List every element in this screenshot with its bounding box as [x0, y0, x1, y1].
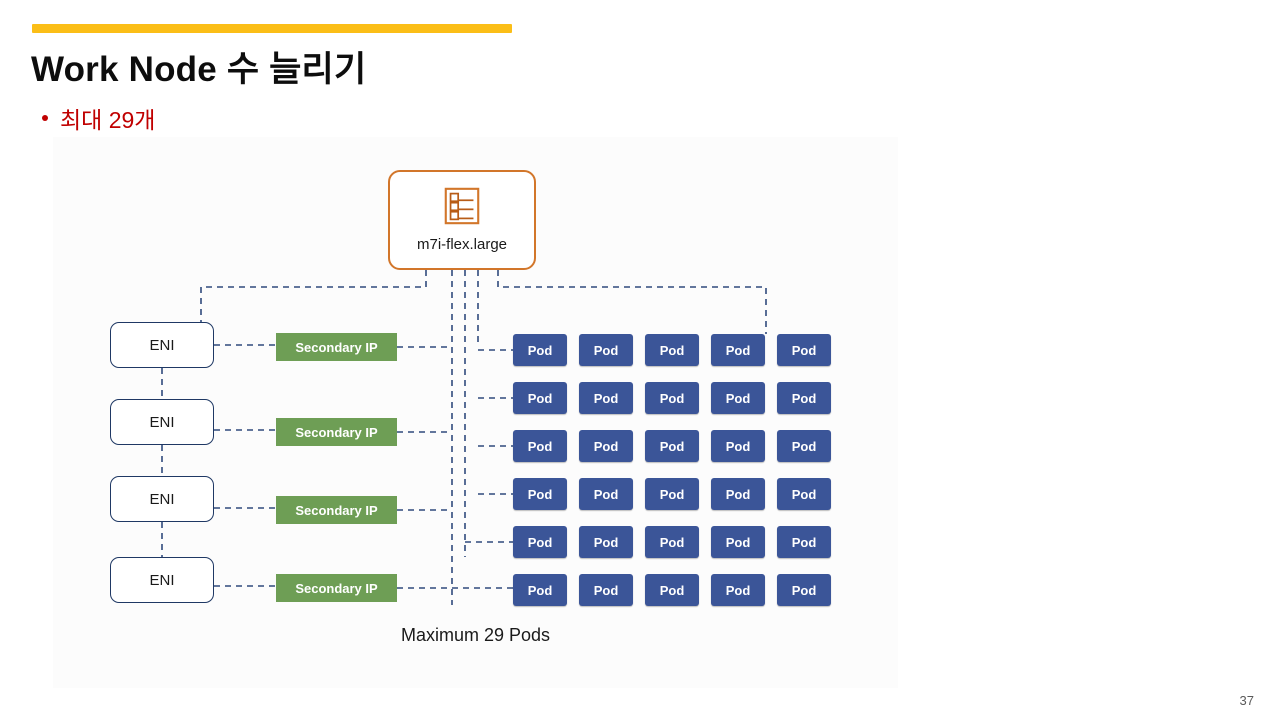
- pod-box[interactable]: Pod: [513, 430, 567, 462]
- pod-box[interactable]: Pod: [579, 526, 633, 558]
- pod-box[interactable]: Pod: [513, 526, 567, 558]
- pod-box[interactable]: Pod: [645, 382, 699, 414]
- pod-box[interactable]: Pod: [777, 382, 831, 414]
- diagram-caption: Maximum 29 Pods: [53, 625, 898, 646]
- pod-box[interactable]: Pod: [579, 478, 633, 510]
- ec2-instance-icon: [441, 185, 483, 227]
- eni-box[interactable]: ENI: [110, 322, 214, 368]
- pod-box[interactable]: Pod: [711, 574, 765, 606]
- secondary-ip-box[interactable]: Secondary IP: [276, 496, 397, 524]
- secondary-ip-box[interactable]: Secondary IP: [276, 418, 397, 446]
- pod-box[interactable]: Pod: [513, 334, 567, 366]
- page-title: Work Node 수 늘리기: [31, 41, 366, 92]
- title-accent-bar: [32, 24, 512, 33]
- bullet-label: 최대 29개: [60, 101, 155, 135]
- secondary-ip-box[interactable]: Secondary IP: [276, 574, 397, 602]
- pod-box[interactable]: Pod: [711, 430, 765, 462]
- bullet-dot-icon: [42, 115, 48, 121]
- pod-box[interactable]: Pod: [513, 574, 567, 606]
- secondary-ip-box[interactable]: Secondary IP: [276, 333, 397, 361]
- pod-box[interactable]: Pod: [513, 382, 567, 414]
- pod-box[interactable]: Pod: [645, 334, 699, 366]
- pod-box[interactable]: Pod: [777, 478, 831, 510]
- pod-box[interactable]: Pod: [579, 430, 633, 462]
- pod-box[interactable]: Pod: [513, 478, 567, 510]
- pod-box[interactable]: Pod: [579, 574, 633, 606]
- bullet-item: 최대 29개: [42, 101, 155, 135]
- ec2-instance-node[interactable]: m7i-flex.large: [388, 170, 536, 270]
- instance-label: m7i-flex.large: [417, 236, 507, 253]
- pod-box[interactable]: Pod: [777, 430, 831, 462]
- pod-box[interactable]: Pod: [645, 478, 699, 510]
- pod-box[interactable]: Pod: [777, 334, 831, 366]
- pod-box[interactable]: Pod: [711, 382, 765, 414]
- pod-box[interactable]: Pod: [579, 382, 633, 414]
- pod-box[interactable]: Pod: [777, 526, 831, 558]
- pod-box[interactable]: Pod: [711, 478, 765, 510]
- eni-box[interactable]: ENI: [110, 399, 214, 445]
- pod-box[interactable]: Pod: [711, 334, 765, 366]
- pod-box[interactable]: Pod: [711, 526, 765, 558]
- pod-box[interactable]: Pod: [645, 526, 699, 558]
- architecture-diagram: m7i-flex.large ENI ENI ENI ENI Secondary…: [53, 137, 898, 688]
- pod-box[interactable]: Pod: [645, 574, 699, 606]
- page-number: 37: [1240, 693, 1254, 708]
- pod-box[interactable]: Pod: [645, 430, 699, 462]
- eni-box[interactable]: ENI: [110, 476, 214, 522]
- pod-box[interactable]: Pod: [777, 574, 831, 606]
- pod-box[interactable]: Pod: [579, 334, 633, 366]
- eni-box[interactable]: ENI: [110, 557, 214, 603]
